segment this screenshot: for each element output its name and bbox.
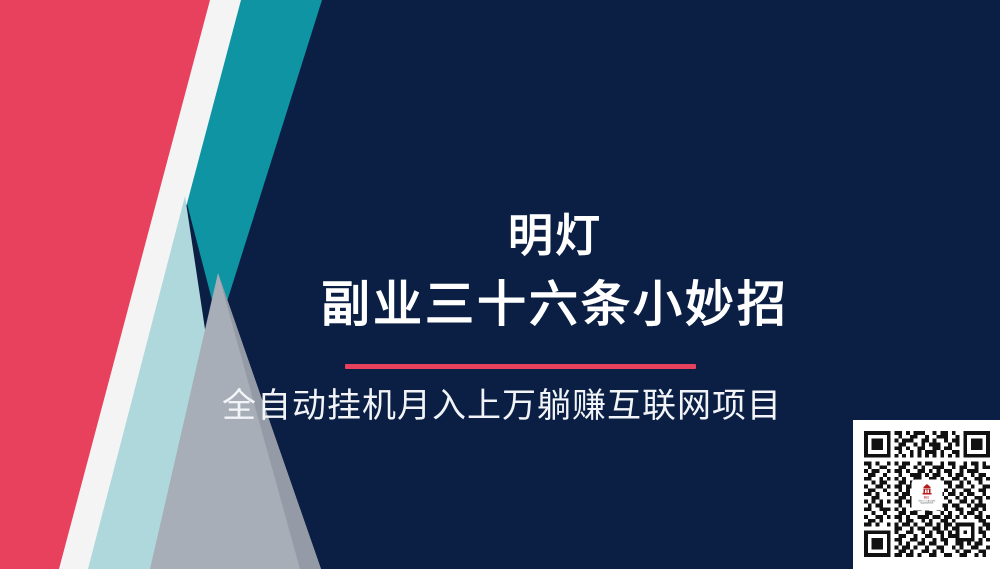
qr-logo-emblem: [920, 484, 933, 496]
slide-content: 明灯 副业三十六条小妙招 全自动挂机月入上万躺赚互联网项目: [0, 0, 1000, 569]
qr-code[interactable]: 明灯 副业三十六条小妙招 全自动挂机项目: [853, 420, 1000, 569]
slide-subtitle: 全自动挂机月入上万躺赚互联网项目: [222, 384, 842, 429]
qr-logo-line3: 全自动挂机项目: [920, 503, 933, 505]
page-title-line1: 明灯: [225, 208, 885, 264]
qr-logo-line1: 明灯: [924, 497, 930, 500]
qr-center-logo: 明灯 副业三十六条小妙招 全自动挂机项目: [911, 479, 942, 510]
page-title-line2: 副业三十六条小妙招: [225, 276, 885, 335]
title-underline: [345, 364, 696, 369]
presentation-slide: 明灯 副业三十六条小妙招 全自动挂机月入上万躺赚互联网项目: [0, 0, 1000, 569]
